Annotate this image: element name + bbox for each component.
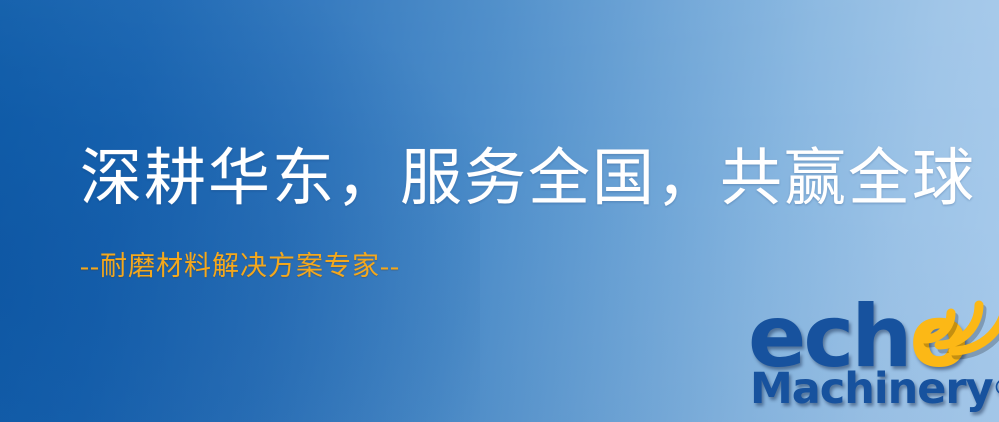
echo-machinery-logo[interactable]: echo Machinery®	[744, 296, 999, 422]
banner-copy-block: 深耕华东，服务全国，共赢全球 --耐磨材料解决方案专家--	[80, 148, 950, 280]
logo-subtitle: Machinery®	[750, 368, 999, 411]
promotional-banner: 深耕华东，服务全国，共赢全球 --耐磨材料解决方案专家-- echo Machi…	[0, 0, 999, 422]
logo-subtitle-text: Machinery	[750, 364, 993, 414]
banner-subheadline: --耐磨材料解决方案专家--	[80, 253, 950, 280]
registered-trademark-icon: ®	[993, 376, 999, 401]
banner-headline: 深耕华东，服务全国，共赢全球	[80, 148, 950, 211]
echo-signal-arcs-icon	[922, 290, 999, 368]
